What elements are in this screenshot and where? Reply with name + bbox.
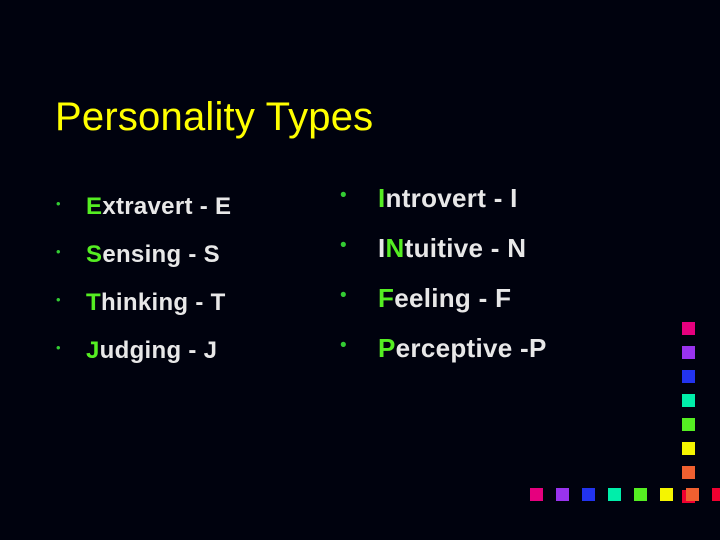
bullet-list-left: •Extravert - E•Sensing - S•Thinking - T•… [56, 193, 356, 385]
bullet-dot-icon: • [340, 286, 378, 305]
bullet-dot-icon: • [56, 293, 86, 306]
list-item-label: Introvert - I [378, 183, 518, 214]
bullet-dot-icon: • [56, 245, 86, 258]
color-swatch [686, 488, 699, 501]
list-item-label: Sensing - S [86, 241, 220, 269]
label-prefix: I [378, 233, 386, 263]
list-item-label: Judging - J [86, 337, 217, 365]
label-rest: tuitive - N [405, 233, 527, 263]
list-item-label: Thinking - T [86, 289, 226, 317]
bullet-dot-icon: • [340, 336, 378, 355]
label-rest: xtravert - E [102, 193, 231, 220]
label-rest: ensing - S [102, 241, 220, 268]
slide-canvas: Personality Types •Extravert - E•Sensing… [0, 0, 720, 540]
list-item-label: Extravert - E [86, 193, 231, 221]
list-item: •INtuitive - N [340, 233, 660, 283]
label-rest: eeling - F [394, 283, 511, 313]
list-item-label: Perceptive -P [378, 333, 547, 364]
list-item: •Thinking - T [56, 289, 356, 337]
label-rest: hinking - T [101, 289, 226, 316]
list-item-label: Feeling - F [378, 283, 511, 314]
label-highlight-letter: I [378, 183, 386, 213]
label-highlight-letter: T [86, 289, 101, 316]
label-highlight-letter: N [386, 233, 405, 263]
label-highlight-letter: F [378, 283, 394, 313]
color-swatch [682, 346, 695, 359]
color-swatch [530, 488, 543, 501]
color-swatch [682, 322, 695, 335]
bullet-dot-icon: • [56, 197, 86, 210]
color-swatch [582, 488, 595, 501]
color-swatch [712, 488, 720, 501]
color-swatch [682, 370, 695, 383]
bullet-dot-icon: • [56, 341, 86, 354]
color-swatch [608, 488, 621, 501]
label-highlight-letter: P [378, 333, 396, 363]
label-rest: ntrovert - I [386, 183, 518, 213]
list-item: •Introvert - I [340, 183, 660, 233]
list-item: •Extravert - E [56, 193, 356, 241]
bullet-dot-icon: • [340, 186, 378, 205]
list-item-label: INtuitive - N [378, 233, 526, 264]
color-swatch [634, 488, 647, 501]
label-highlight-letter: S [86, 241, 102, 268]
list-item: •Sensing - S [56, 241, 356, 289]
label-highlight-letter: J [86, 337, 100, 364]
label-rest: erceptive -P [396, 333, 547, 363]
label-rest: udging - J [100, 337, 218, 364]
page-title: Personality Types [55, 93, 373, 141]
color-swatch [682, 418, 695, 431]
color-swatch [682, 442, 695, 455]
list-item: •Feeling - F [340, 283, 660, 333]
color-swatch [556, 488, 569, 501]
bullet-dot-icon: • [340, 236, 378, 255]
color-swatch [660, 488, 673, 501]
color-swatch [682, 466, 695, 479]
list-item: •Judging - J [56, 337, 356, 385]
list-item: •Perceptive -P [340, 333, 660, 383]
bullet-list-right: •Introvert - I•INtuitive - N•Feeling - F… [340, 183, 660, 383]
color-swatch [682, 394, 695, 407]
label-highlight-letter: E [86, 193, 102, 220]
